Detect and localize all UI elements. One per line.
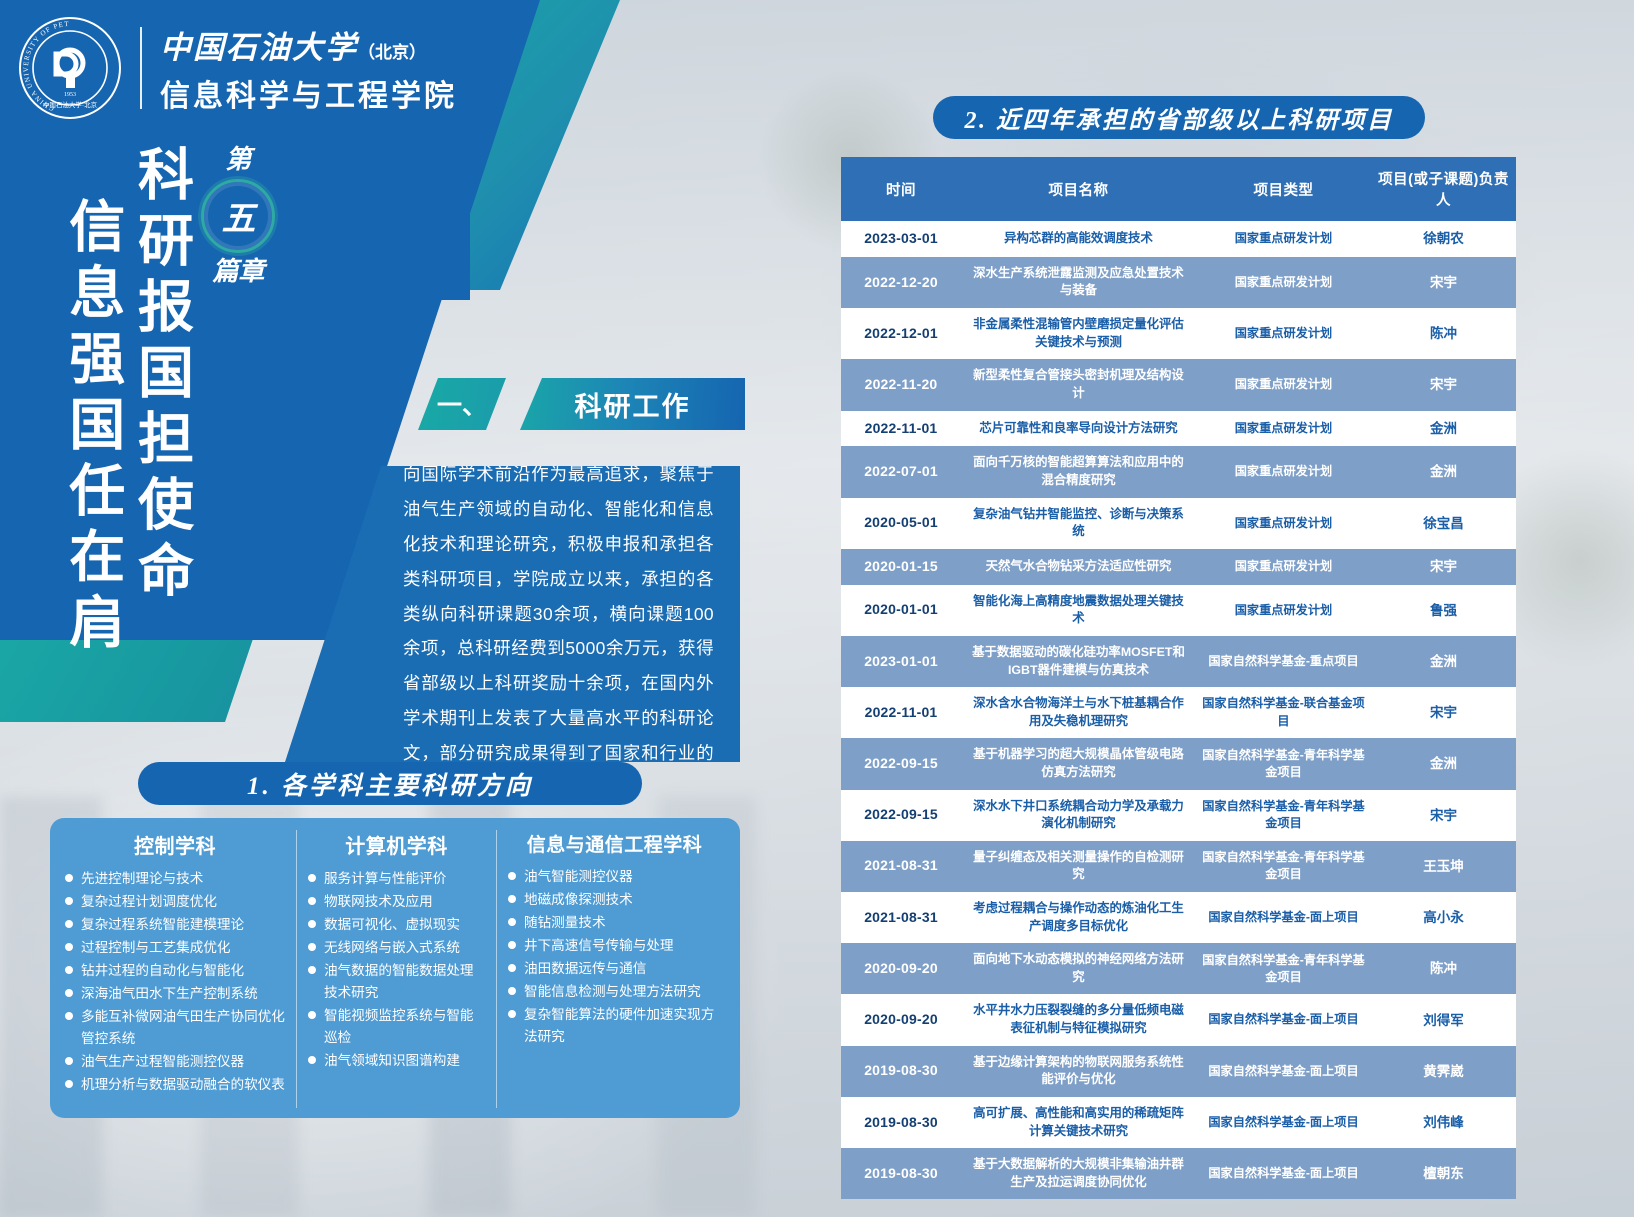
- bullet-icon: [508, 941, 516, 949]
- bullet-icon: [508, 964, 516, 972]
- chapter-line-2: 信息强国任在肩: [60, 197, 123, 659]
- list-item-label: 复杂过程计划调度优化: [81, 894, 217, 909]
- bullet-icon: [65, 1012, 73, 1020]
- table-row: 2020-09-20面向地下水动态模拟的神经网络方法研究国家自然科学基金-青年科…: [841, 943, 1516, 994]
- cell-principal-investigator: 陈冲: [1371, 308, 1516, 359]
- discipline-heading: 计算机学科: [307, 830, 486, 859]
- cell-principal-investigator: 刘伟峰: [1371, 1097, 1516, 1148]
- section-number: 一、: [418, 378, 506, 430]
- cell-project-name: 非金属柔性混输管内壁磨损定量化评估关键技术与预测: [961, 308, 1196, 359]
- list-item-label: 油气数据的智能数据处理技术研究: [324, 963, 474, 1000]
- cell-project-name: 芯片可靠性和良率导向设计方法研究: [961, 411, 1196, 447]
- chapter-prefix: 第: [225, 145, 251, 175]
- list-item: 先进控制理论与技术: [64, 868, 286, 890]
- list-item-label: 复杂智能算法的硬件加速实现方法研究: [524, 1007, 714, 1044]
- column-header-project-type: 项目类型: [1196, 157, 1371, 221]
- bullet-icon: [308, 1056, 316, 1064]
- list-item: 井下高速信号传输与处理: [507, 935, 722, 957]
- cell-principal-investigator: 陈冲: [1371, 943, 1516, 994]
- cell-time: 2022-09-15: [841, 738, 961, 789]
- cell-project-type: 国家自然科学基金-青年科学基金项目: [1196, 841, 1371, 892]
- cell-project-type: 国家自然科学基金-面上项目: [1196, 994, 1371, 1045]
- table-row: 2020-01-01智能化海上高精度地震数据处理关键技术国家重点研发计划鲁强: [841, 585, 1516, 636]
- list-item: 油气生产过程智能测控仪器: [64, 1051, 286, 1073]
- bullet-icon: [65, 874, 73, 882]
- cell-time: 2019-08-30: [841, 1148, 961, 1199]
- cell-project-name: 面向地下水动态模拟的神经网络方法研究: [961, 943, 1196, 994]
- cell-principal-investigator: 宋宇: [1371, 359, 1516, 410]
- cell-project-type: 国家自然科学基金-面上项目: [1196, 1046, 1371, 1097]
- university-crest-icon: CHINA UNIVERSITY OF PETROLEUM 1953 中国石油大…: [18, 16, 122, 120]
- table-row: 2022-12-01非金属柔性混输管内壁磨损定量化评估关键技术与预测国家重点研发…: [841, 308, 1516, 359]
- cell-time: 2020-05-01: [841, 498, 961, 549]
- bullet-icon: [65, 1057, 73, 1065]
- table-row: 2019-08-30基于大数据解析的大规模非集输油井群生产及拉运调度协同优化国家…: [841, 1148, 1516, 1199]
- cell-project-type: 国家重点研发计划: [1196, 446, 1371, 497]
- cell-project-type: 国家重点研发计划: [1196, 498, 1371, 549]
- poster-page: CHINA UNIVERSITY OF PETROLEUM 1953 中国石油大…: [0, 0, 1634, 1217]
- svg-text:CHINA UNIVERSITY OF PETROLEUM: CHINA UNIVERSITY OF PETROLEUM: [18, 16, 70, 113]
- bullet-icon: [65, 989, 73, 997]
- list-item-label: 过程控制与工艺集成优化: [81, 940, 231, 955]
- table-row: 2022-09-15基于机器学习的超大规模晶体管级电路仿真方法研究国家自然科学基…: [841, 738, 1516, 789]
- cell-project-name: 深水水下井口系统耦合动力学及承载力演化机制研究: [961, 790, 1196, 841]
- list-item-label: 钻井过程的自动化与智能化: [81, 963, 244, 978]
- discipline-directions-card: 控制学科 先进控制理论与技术 复杂过程计划调度优化 复杂过程系统智能建模理论 过…: [50, 818, 740, 1118]
- projects-table-container: 时间 项目名称 项目类型 项目(或子课题)负责人 2023-03-01异构芯群的…: [841, 157, 1516, 1199]
- cell-principal-investigator: 刘得军: [1371, 994, 1516, 1045]
- bullet-icon: [65, 943, 73, 951]
- list-item-label: 物联网技术及应用: [324, 894, 433, 909]
- cell-principal-investigator: 黄霁崴: [1371, 1046, 1516, 1097]
- cell-principal-investigator: 宋宇: [1371, 790, 1516, 841]
- cell-principal-investigator: 高小永: [1371, 892, 1516, 943]
- list-item: 钻井过程的自动化与智能化: [64, 960, 286, 982]
- list-item: 服务计算与性能评价: [307, 868, 486, 890]
- table-row: 2022-09-15深水水下井口系统耦合动力学及承载力演化机制研究国家自然科学基…: [841, 790, 1516, 841]
- section-title: 科研工作: [520, 378, 745, 430]
- table-row: 2022-11-20新型柔性复合管接头密封机理及结构设计国家重点研发计划宋宇: [841, 359, 1516, 410]
- list-item: 数据可视化、虚拟现实: [307, 914, 486, 936]
- chapter-line-1: 科研报国担使命: [129, 145, 192, 607]
- table-row: 2022-11-01深水含水合物海洋土与水下桩基耦合作用及失稳机理研究国家自然科…: [841, 687, 1516, 738]
- list-item-label: 油气生产过程智能测控仪器: [81, 1054, 244, 1069]
- list-item-label: 无线网络与嵌入式系统: [324, 940, 460, 955]
- table-row: 2019-08-30基于边缘计算架构的物联网服务系统性能评价与优化国家自然科学基…: [841, 1046, 1516, 1097]
- brand-header: CHINA UNIVERSITY OF PETROLEUM 1953 中国石油大…: [18, 16, 457, 120]
- cell-project-type: 国家自然科学基金-青年科学基金项目: [1196, 790, 1371, 841]
- projects-section-title: 2. 近四年承担的省部级以上科研项目: [933, 96, 1425, 139]
- discipline-heading: 信息与通信工程学科: [507, 830, 722, 857]
- list-item: 油气智能测控仪器: [507, 866, 722, 888]
- cell-time: 2022-09-15: [841, 790, 961, 841]
- list-item-label: 井下高速信号传输与处理: [524, 938, 674, 953]
- table-head: 时间 项目名称 项目类型 项目(或子课题)负责人: [841, 157, 1516, 221]
- bullet-icon: [508, 872, 516, 880]
- list-item-label: 机理分析与数据驱动融合的软仪表: [81, 1077, 285, 1092]
- cell-principal-investigator: 宋宇: [1371, 549, 1516, 585]
- cell-project-name: 高可扩展、高性能和高实用的稀疏矩阵计算关键技术研究: [961, 1097, 1196, 1148]
- bullet-icon: [308, 874, 316, 882]
- table-row: 2022-07-01面向千万核的智能超算算法和应用中的混合精度研究国家重点研发计…: [841, 446, 1516, 497]
- column-header-project-name: 项目名称: [961, 157, 1196, 221]
- cell-project-name: 天然气水合物钻采方法适应性研究: [961, 549, 1196, 585]
- university-name: 中国石油大学（北京）: [160, 22, 457, 67]
- table-row: 2023-03-01异构芯群的高能效调度技术国家重点研发计划徐朝农: [841, 221, 1516, 257]
- cell-project-type: 国家重点研发计划: [1196, 549, 1371, 585]
- list-item-label: 先进控制理论与技术: [81, 871, 203, 886]
- chapter-title-block: 第 五 篇章 科研报国担使命 信息强国任在肩: [60, 145, 275, 659]
- list-item: 物联网技术及应用: [307, 891, 486, 913]
- table-row: 2021-08-31量子纠缠态及相关测量操作的自检测研究国家自然科学基金-青年科…: [841, 841, 1516, 892]
- cell-project-name: 智能化海上高精度地震数据处理关键技术: [961, 585, 1196, 636]
- cell-project-name: 深水生产系统泄露监测及应急处置技术与装备: [961, 257, 1196, 308]
- cell-time: 2020-09-20: [841, 994, 961, 1045]
- bullet-icon: [308, 966, 316, 974]
- list-item-label: 地磁成像探测技术: [524, 892, 633, 907]
- cell-project-type: 国家重点研发计划: [1196, 411, 1371, 447]
- bullet-icon: [308, 897, 316, 905]
- list-item: 无线网络与嵌入式系统: [307, 937, 486, 959]
- table-row: 2023-01-01基于数据驱动的碳化硅功率MOSFET和IGBT器件建模与仿真…: [841, 636, 1516, 687]
- cell-principal-investigator: 宋宇: [1371, 687, 1516, 738]
- cell-project-type: 国家自然科学基金-面上项目: [1196, 892, 1371, 943]
- logo-divider: [140, 27, 142, 109]
- chapter-suffix: 篇章: [212, 257, 264, 287]
- table-row: 2022-11-01芯片可靠性和良率导向设计方法研究国家重点研发计划金洲: [841, 411, 1516, 447]
- column-header-time: 时间: [841, 157, 961, 221]
- list-item: 复杂过程计划调度优化: [64, 891, 286, 913]
- list-item: 智能视频监控系统与智能巡检: [307, 1005, 486, 1049]
- list-item-label: 复杂过程系统智能建模理论: [81, 917, 244, 932]
- cell-time: 2022-11-01: [841, 411, 961, 447]
- list-item-label: 多能互补微网油气田生产协同优化管控系统: [81, 1009, 285, 1046]
- bullet-icon: [65, 897, 73, 905]
- bullet-icon: [308, 1011, 316, 1019]
- cell-principal-investigator: 王玉坤: [1371, 841, 1516, 892]
- cell-time: 2023-01-01: [841, 636, 961, 687]
- cell-project-type: 国家重点研发计划: [1196, 221, 1371, 257]
- list-item: 多能互补微网油气田生产协同优化管控系统: [64, 1006, 286, 1050]
- bullet-icon: [508, 987, 516, 995]
- bullet-icon: [308, 920, 316, 928]
- discipline-column-info-comm: 信息与通信工程学科 油气智能测控仪器 地磁成像探测技术 随钻测量技术 井下高速信…: [496, 830, 732, 1108]
- cell-time: 2022-11-20: [841, 359, 961, 410]
- cell-project-type: 国家自然科学基金-青年科学基金项目: [1196, 738, 1371, 789]
- cell-time: 2019-08-30: [841, 1046, 961, 1097]
- list-item-label: 智能视频监控系统与智能巡检: [324, 1008, 474, 1045]
- cell-project-name: 面向千万核的智能超算算法和应用中的混合精度研究: [961, 446, 1196, 497]
- cell-project-type: 国家重点研发计划: [1196, 308, 1371, 359]
- list-item: 油气数据的智能数据处理技术研究: [307, 960, 486, 1004]
- chapter-number-ring: 五: [201, 179, 275, 253]
- list-item: 机理分析与数据驱动融合的软仪表: [64, 1074, 286, 1096]
- list-item: 地磁成像探测技术: [507, 889, 722, 911]
- table-row: 2022-12-20深水生产系统泄露监测及应急处置技术与装备国家重点研发计划宋宇: [841, 257, 1516, 308]
- list-item: 随钻测量技术: [507, 912, 722, 934]
- cell-project-type: 国家重点研发计划: [1196, 585, 1371, 636]
- cell-time: 2023-03-01: [841, 221, 961, 257]
- bullet-icon: [65, 1080, 73, 1088]
- cell-time: 2020-01-15: [841, 549, 961, 585]
- table-header-row: 时间 项目名称 项目类型 项目(或子课题)负责人: [841, 157, 1516, 221]
- chapter-badge: 第 五 篇章: [201, 145, 275, 287]
- table-body: 2023-03-01异构芯群的高能效调度技术国家重点研发计划徐朝农2022-12…: [841, 221, 1516, 1199]
- discipline-heading: 控制学科: [64, 830, 286, 859]
- list-item-label: 深海油气田水下生产控制系统: [81, 986, 258, 1001]
- list-item: 智能信息检测与处理方法研究: [507, 981, 722, 1003]
- cell-project-name: 量子纠缠态及相关测量操作的自检测研究: [961, 841, 1196, 892]
- svg-text:1953: 1953: [64, 92, 76, 98]
- table-row: 2021-08-31考虑过程耦合与操作动态的炼油化工生产调度多目标优化国家自然科…: [841, 892, 1516, 943]
- cell-project-name: 基于大数据解析的大规模非集输油井群生产及拉运调度协同优化: [961, 1148, 1196, 1199]
- cell-time: 2021-08-31: [841, 892, 961, 943]
- section-research-work-header: 一、 科研工作: [418, 378, 745, 430]
- cell-project-type: 国家重点研发计划: [1196, 257, 1371, 308]
- list-item: 油气领域知识图谱构建: [307, 1050, 486, 1072]
- cell-time: 2022-12-20: [841, 257, 961, 308]
- cell-project-name: 基于数据驱动的碳化硅功率MOSFET和IGBT器件建模与仿真技术: [961, 636, 1196, 687]
- cell-principal-investigator: 金洲: [1371, 636, 1516, 687]
- svg-text:中国石油大学·北京: 中国石油大学·北京: [43, 100, 98, 109]
- disciplines-section-title: 1. 各学科主要科研方向: [138, 762, 642, 805]
- list-item: 油田数据远传与通信: [507, 958, 722, 980]
- cell-project-name: 新型柔性复合管接头密封机理及结构设计: [961, 359, 1196, 410]
- cell-project-name: 水平井水力压裂裂缝的多分量低频电磁表征机制与特征模拟研究: [961, 994, 1196, 1045]
- list-item: 复杂智能算法的硬件加速实现方法研究: [507, 1004, 722, 1048]
- cell-principal-investigator: 徐宝昌: [1371, 498, 1516, 549]
- list-item: 深海油气田水下生产控制系统: [64, 983, 286, 1005]
- cell-principal-investigator: 金洲: [1371, 446, 1516, 497]
- cell-time: 2022-11-01: [841, 687, 961, 738]
- cell-principal-investigator: 徐朝农: [1371, 221, 1516, 257]
- list-item: 过程控制与工艺集成优化: [64, 937, 286, 959]
- cell-project-name: 基于机器学习的超大规模晶体管级电路仿真方法研究: [961, 738, 1196, 789]
- list-item-label: 油田数据远传与通信: [524, 961, 646, 976]
- cell-time: 2022-12-01: [841, 308, 961, 359]
- cell-principal-investigator: 金洲: [1371, 738, 1516, 789]
- list-item-label: 随钻测量技术: [524, 915, 606, 930]
- cell-time: 2020-09-20: [841, 943, 961, 994]
- cell-project-name: 基于边缘计算架构的物联网服务系统性能评价与优化: [961, 1046, 1196, 1097]
- projects-table: 时间 项目名称 项目类型 项目(或子课题)负责人 2023-03-01异构芯群的…: [841, 157, 1516, 1199]
- list-item-label: 智能信息检测与处理方法研究: [524, 984, 701, 999]
- discipline-column-control: 控制学科 先进控制理论与技术 复杂过程计划调度优化 复杂过程系统智能建模理论 过…: [54, 830, 296, 1108]
- table-row: 2019-08-30高可扩展、高性能和高实用的稀疏矩阵计算关键技术研究国家自然科…: [841, 1097, 1516, 1148]
- list-item-label: 数据可视化、虚拟现实: [324, 917, 460, 932]
- cell-project-type: 国家自然科学基金-面上项目: [1196, 1148, 1371, 1199]
- table-row: 2020-05-01复杂油气钻井智能监控、诊断与决策系统国家重点研发计划徐宝昌: [841, 498, 1516, 549]
- cell-project-name: 复杂油气钻井智能监控、诊断与决策系统: [961, 498, 1196, 549]
- discipline-column-computer: 计算机学科 服务计算与性能评价 物联网技术及应用 数据可视化、虚拟现实 无线网络…: [296, 830, 496, 1108]
- cell-project-type: 国家重点研发计划: [1196, 359, 1371, 410]
- cell-project-type: 国家自然科学基金-重点项目: [1196, 636, 1371, 687]
- school-name: 信息科学与工程学院: [160, 71, 457, 115]
- cell-principal-investigator: 金洲: [1371, 411, 1516, 447]
- cell-principal-investigator: 檀朝东: [1371, 1148, 1516, 1199]
- chapter-number: 五: [221, 191, 255, 240]
- cell-project-name: 深水含水合物海洋土与水下桩基耦合作用及失稳机理研究: [961, 687, 1196, 738]
- cell-project-type: 国家自然科学基金-联合基金项目: [1196, 687, 1371, 738]
- cell-time: 2019-08-30: [841, 1097, 961, 1148]
- cell-principal-investigator: 宋宇: [1371, 257, 1516, 308]
- cell-time: 2022-07-01: [841, 446, 961, 497]
- list-item: 复杂过程系统智能建模理论: [64, 914, 286, 936]
- university-campus: （北京）: [358, 43, 426, 62]
- bullet-icon: [65, 920, 73, 928]
- cell-time: 2021-08-31: [841, 841, 961, 892]
- bullet-icon: [508, 1010, 516, 1018]
- table-row: 2020-09-20水平井水力压裂裂缝的多分量低频电磁表征机制与特征模拟研究国家…: [841, 994, 1516, 1045]
- table-row: 2020-01-15天然气水合物钻采方法适应性研究国家重点研发计划宋宇: [841, 549, 1516, 585]
- cell-project-type: 国家自然科学基金-青年科学基金项目: [1196, 943, 1371, 994]
- cell-time: 2020-01-01: [841, 585, 961, 636]
- list-item-label: 服务计算与性能评价: [324, 871, 446, 886]
- bullet-icon: [508, 895, 516, 903]
- bullet-icon: [308, 943, 316, 951]
- bullet-icon: [65, 966, 73, 974]
- column-header-principal-investigator: 项目(或子课题)负责人: [1371, 157, 1516, 221]
- cell-project-name: 考虑过程耦合与操作动态的炼油化工生产调度多目标优化: [961, 892, 1196, 943]
- bullet-icon: [508, 918, 516, 926]
- list-item-label: 油气智能测控仪器: [524, 869, 633, 884]
- cell-principal-investigator: 鲁强: [1371, 585, 1516, 636]
- cell-project-type: 国家自然科学基金-面上项目: [1196, 1097, 1371, 1148]
- cell-project-name: 异构芯群的高能效调度技术: [961, 221, 1196, 257]
- list-item-label: 油气领域知识图谱构建: [324, 1053, 460, 1068]
